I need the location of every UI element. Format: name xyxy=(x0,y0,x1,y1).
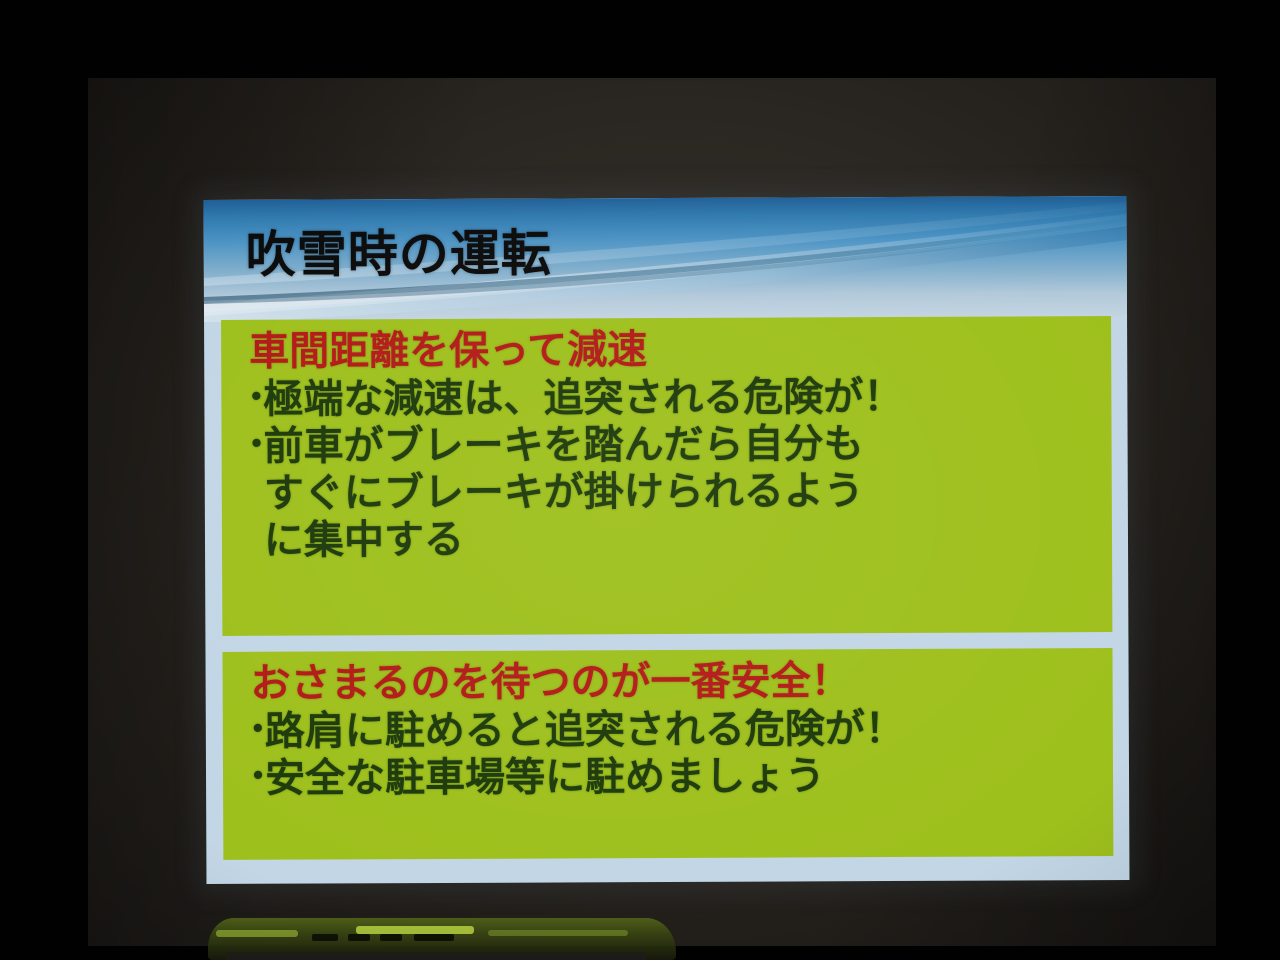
bullet-dot-icon: ・ xyxy=(239,424,263,467)
slide-header-band: 吹雪時の運転 xyxy=(204,196,1128,322)
equipment-highlight xyxy=(216,930,298,937)
block-1-heading: 車間距離を保って減速 xyxy=(249,326,1097,374)
equipment-base xyxy=(226,952,646,960)
content-block-2: おさまるのを待つのが一番安全！ ・ 路肩に駐めると追突される危険が！ ・ 安全な… xyxy=(222,648,1113,860)
bullet-text: 前車がブレーキを踏んだら自分も すぐにブレーキが掛けられるよう に集中する xyxy=(263,420,1098,565)
content-block-1: 車間距離を保って減速 ・ 極端な減速は、追突される危険が！ ・ 前車がブレーキを… xyxy=(221,316,1112,636)
block-1-bullet-1: ・ 極端な減速は、追突される危険が！ xyxy=(239,373,1097,424)
projected-slide: 吹雪時の運転 車間距離を保って減速 ・ 極端な減速は、追突される危険が！ ・ 前… xyxy=(204,196,1130,884)
block-2-heading: おさまるのを待つのが一番安全！ xyxy=(251,658,1099,706)
block-1-bullet-2: ・ 前車がブレーキを踏んだら自分も すぐにブレーキが掛けられるよう に集中する xyxy=(239,420,1098,565)
block-2-bullet-1: ・ 路肩に駐めると追突される危険が！ xyxy=(241,705,1099,756)
equipment-highlight xyxy=(356,926,474,934)
equipment-port xyxy=(414,934,454,941)
bullet-dot-icon: ・ xyxy=(241,709,265,752)
block-2-bullet-2: ・ 安全な駐車場等に駐めましょう xyxy=(241,752,1099,803)
equipment-port xyxy=(312,934,338,941)
equipment-port xyxy=(348,934,370,941)
equipment-silhouette xyxy=(208,908,676,960)
bullet-text: 極端な減速は、追突される危険が！ xyxy=(263,373,1097,424)
bullet-dot-icon: ・ xyxy=(241,756,265,799)
page-title: 吹雪時の運転 xyxy=(246,228,552,279)
photo-scene: 吹雪時の運転 車間距離を保って減速 ・ 極端な減速は、追突される危険が！ ・ 前… xyxy=(0,0,1280,960)
bullet-text: 路肩に駐めると追突される危険が！ xyxy=(265,705,1099,756)
equipment-port xyxy=(380,934,402,941)
bullet-text: 安全な駐車場等に駐めましょう xyxy=(265,752,1099,803)
equipment-highlight xyxy=(488,930,628,936)
bullet-dot-icon: ・ xyxy=(239,377,263,420)
